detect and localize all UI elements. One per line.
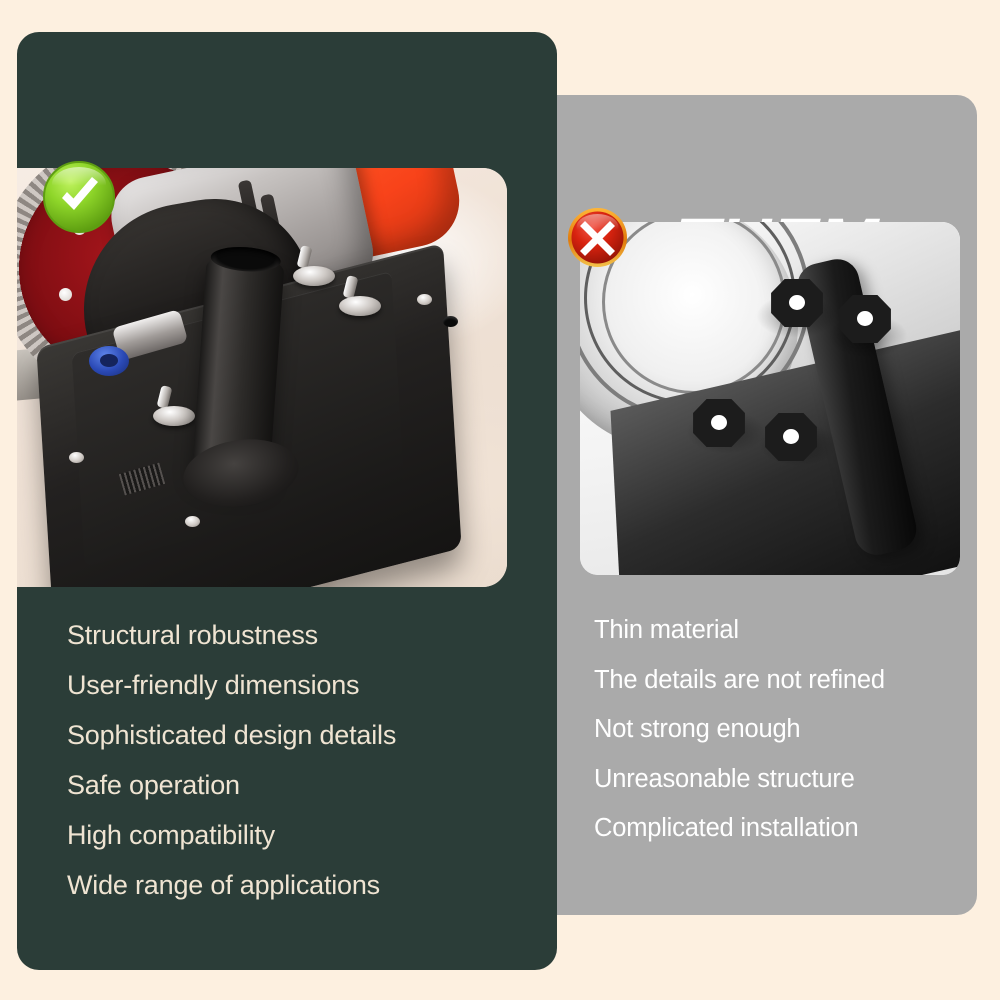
- them-feature-item: The details are not refined: [594, 668, 974, 694]
- us-plate-rivet: [417, 294, 432, 305]
- them-feature-list: Thin material The details are not refine…: [594, 618, 974, 866]
- them-feature-item: Not strong enough: [594, 717, 974, 743]
- us-feature-item: User-friendly dimensions: [67, 672, 537, 699]
- them-feature-item: Unreasonable structure: [594, 767, 974, 793]
- them-product-photo: [580, 222, 960, 575]
- us-blue-water-fitting: [89, 346, 129, 376]
- us-wing-knob: [153, 400, 195, 430]
- us-plate-rivet: [69, 452, 84, 463]
- us-feature-item: Safe operation: [67, 772, 537, 799]
- us-fitting-hole: [100, 354, 118, 367]
- us-feature-item: Structural robustness: [67, 622, 537, 649]
- us-plate-hole: [443, 316, 458, 327]
- them-photo-scene: [580, 222, 960, 575]
- red-x-badge-icon: [567, 207, 628, 268]
- us-feature-item: Sophisticated design details: [67, 722, 537, 749]
- us-feature-item: Wide range of applications: [67, 872, 537, 899]
- us-wing-knob: [339, 290, 381, 320]
- us-wing-knob-base: [293, 266, 335, 286]
- us-blade-hole: [59, 288, 72, 301]
- us-feature-item: High compatibility: [67, 822, 537, 849]
- us-wing-knob-base: [339, 296, 381, 316]
- us-feature-list: Structural robustness User-friendly dime…: [67, 622, 537, 922]
- us-wing-knob-base: [153, 406, 195, 426]
- us-plate-rivet: [185, 516, 200, 527]
- them-feature-item: Thin material: [594, 618, 974, 644]
- them-feature-item: Complicated installation: [594, 816, 974, 842]
- comparison-infographic: THEM Thin material: [0, 0, 1000, 1000]
- green-check-badge-icon: [42, 160, 116, 234]
- us-wing-knob: [293, 260, 335, 290]
